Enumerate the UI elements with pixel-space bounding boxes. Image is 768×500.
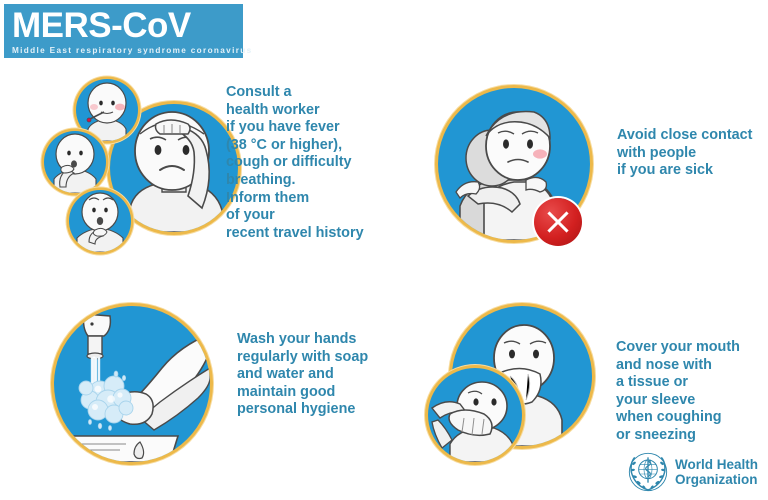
- illustration-handwashing-circle: [54, 306, 210, 462]
- circle-artwork: [54, 306, 210, 462]
- page-subtitle: Middle East respiratory syndrome coronav…: [12, 45, 235, 56]
- no-close-contact-badge: [534, 198, 582, 246]
- symptom-circle-cough: [44, 131, 106, 193]
- person-breathing-difficulty-icon: [69, 190, 131, 252]
- panel-text-avoid-close-contact: Avoid close contact with people if you a…: [617, 127, 767, 180]
- who-logo: World Health Organization: [628, 452, 758, 492]
- person-coughing-into-elbow-icon: [428, 368, 522, 462]
- circle-artwork: [69, 190, 131, 252]
- hands-washing-under-faucet-icon: [54, 306, 210, 462]
- circle-artwork: [428, 368, 522, 462]
- illustration-elbow-cough-circle: [428, 368, 522, 462]
- panel-text-wash-your-hands: Wash your hands regularly with soap and …: [237, 331, 412, 419]
- close-x-icon: [541, 205, 575, 239]
- panel-text-consult-health-worker: Consult a health worker if you have feve…: [226, 84, 401, 242]
- symptom-circle-fever: [76, 79, 138, 141]
- page-title: MERS-CoV: [12, 7, 235, 45]
- header-banner: MERS-CoV Middle East respiratory syndrom…: [4, 4, 243, 58]
- circle-artwork: [44, 131, 106, 193]
- person-with-thermometer-icon: [76, 79, 138, 141]
- person-coughing-icon: [44, 131, 106, 193]
- who-logo-text: World Health Organization: [675, 457, 758, 487]
- circle-artwork: [76, 79, 138, 141]
- symptom-circle-difficulty-breathing: [69, 190, 131, 252]
- panel-text-cover-mouth-and-nose: Cover your mouth and nose with a tissue …: [616, 339, 768, 445]
- who-emblem-icon: [628, 452, 668, 492]
